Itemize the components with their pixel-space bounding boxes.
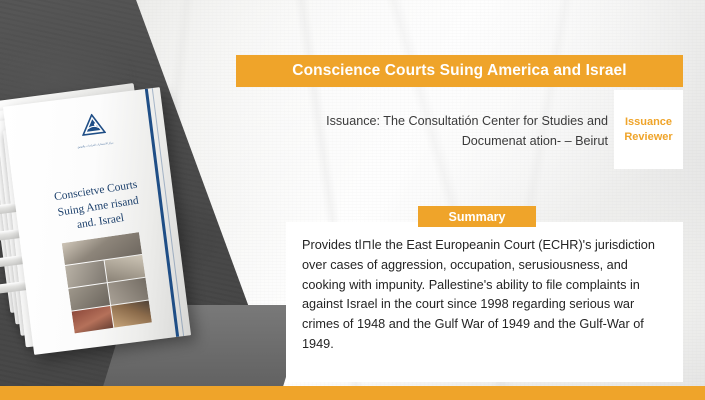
issuance-reviewer-label-line-1: Issuance (625, 115, 672, 130)
publisher-logo: مركز الاستشارات للدراسات والتوثيق (69, 111, 119, 150)
collage-photo (72, 306, 113, 333)
presentation-slide: مركز الاستشارات للدراسات والتوثيق Consci… (0, 0, 705, 400)
issuance-reviewer-label-line-2: Reviewer (624, 130, 672, 145)
consultation-center-logo-icon (80, 112, 107, 137)
bottom-accent-bar (0, 386, 705, 400)
issuance-reviewer-card: Issuance Reviewer (614, 90, 683, 169)
summary-body-text: Provides tⅼ⊓le the East Europeanin Court… (302, 236, 674, 355)
book-stack-image: مركز الاستشارات للدراسات والتوثيق Consci… (0, 82, 240, 382)
book-cover-photo-collage (62, 232, 152, 334)
summary-panel: Provides tⅼ⊓le the East Europeanin Court… (286, 222, 683, 382)
slide-title-bar: Conscience Courts Suing America and Isra… (236, 55, 683, 87)
book-cover-title: Conscietve Courts Suing Ame risand and. … (35, 175, 161, 240)
summary-badge: Summary (418, 206, 536, 227)
slide-title: Conscience Courts Suing America and Isra… (292, 62, 626, 80)
publisher-logo-caption: مركز الاستشارات للدراسات والتوثيق (72, 141, 118, 150)
collage-photo (111, 300, 152, 327)
issuance-line: Issuance: The Consultatión Center for St… (280, 112, 608, 152)
summary-badge-label: Summary (449, 210, 506, 224)
book-front-cover: مركز الاستشارات للدراسات والتوثيق Consci… (3, 87, 191, 355)
